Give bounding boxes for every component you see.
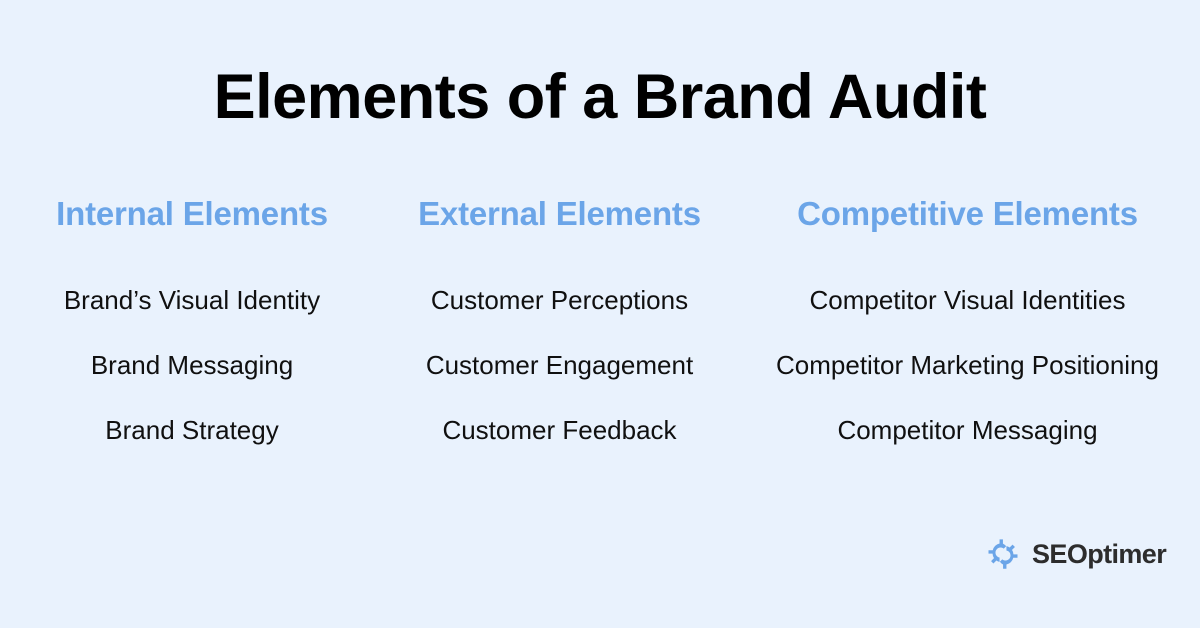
column-header-external: External Elements (418, 192, 701, 236)
column-items-external: Customer Perceptions Customer Engagement… (426, 285, 693, 445)
list-item: Customer Perceptions (431, 285, 688, 315)
list-item: Competitor Messaging (837, 415, 1097, 445)
column-items-competitive: Competitor Visual Identities Competitor … (776, 285, 1159, 445)
page-title: Elements of a Brand Audit (0, 58, 1200, 136)
list-item: Brand Strategy (105, 415, 278, 445)
seoptimer-gear-icon (983, 534, 1023, 574)
seoptimer-logo: SEOptimer (983, 534, 1166, 574)
column-items-internal: Brand’s Visual Identity Brand Messaging … (64, 285, 320, 445)
list-item: Brand Messaging (91, 350, 293, 380)
column-header-internal: Internal Elements (56, 192, 328, 236)
column-competitive-elements: Competitive Elements Competitor Visual I… (747, 192, 1188, 445)
list-item: Brand’s Visual Identity (64, 285, 320, 315)
list-item: Competitor Marketing Positioning (776, 350, 1159, 380)
column-header-competitive: Competitive Elements (797, 192, 1138, 236)
infographic-canvas: Elements of a Brand Audit Internal Eleme… (0, 0, 1200, 628)
list-item: Customer Engagement (426, 350, 693, 380)
list-item: Competitor Visual Identities (809, 285, 1125, 315)
list-item: Customer Feedback (442, 415, 676, 445)
elements-columns: Internal Elements Brand’s Visual Identit… (12, 192, 1188, 445)
seoptimer-wordmark: SEOptimer (1032, 539, 1166, 569)
column-internal-elements: Internal Elements Brand’s Visual Identit… (12, 192, 372, 445)
column-external-elements: External Elements Customer Perceptions C… (372, 192, 747, 445)
